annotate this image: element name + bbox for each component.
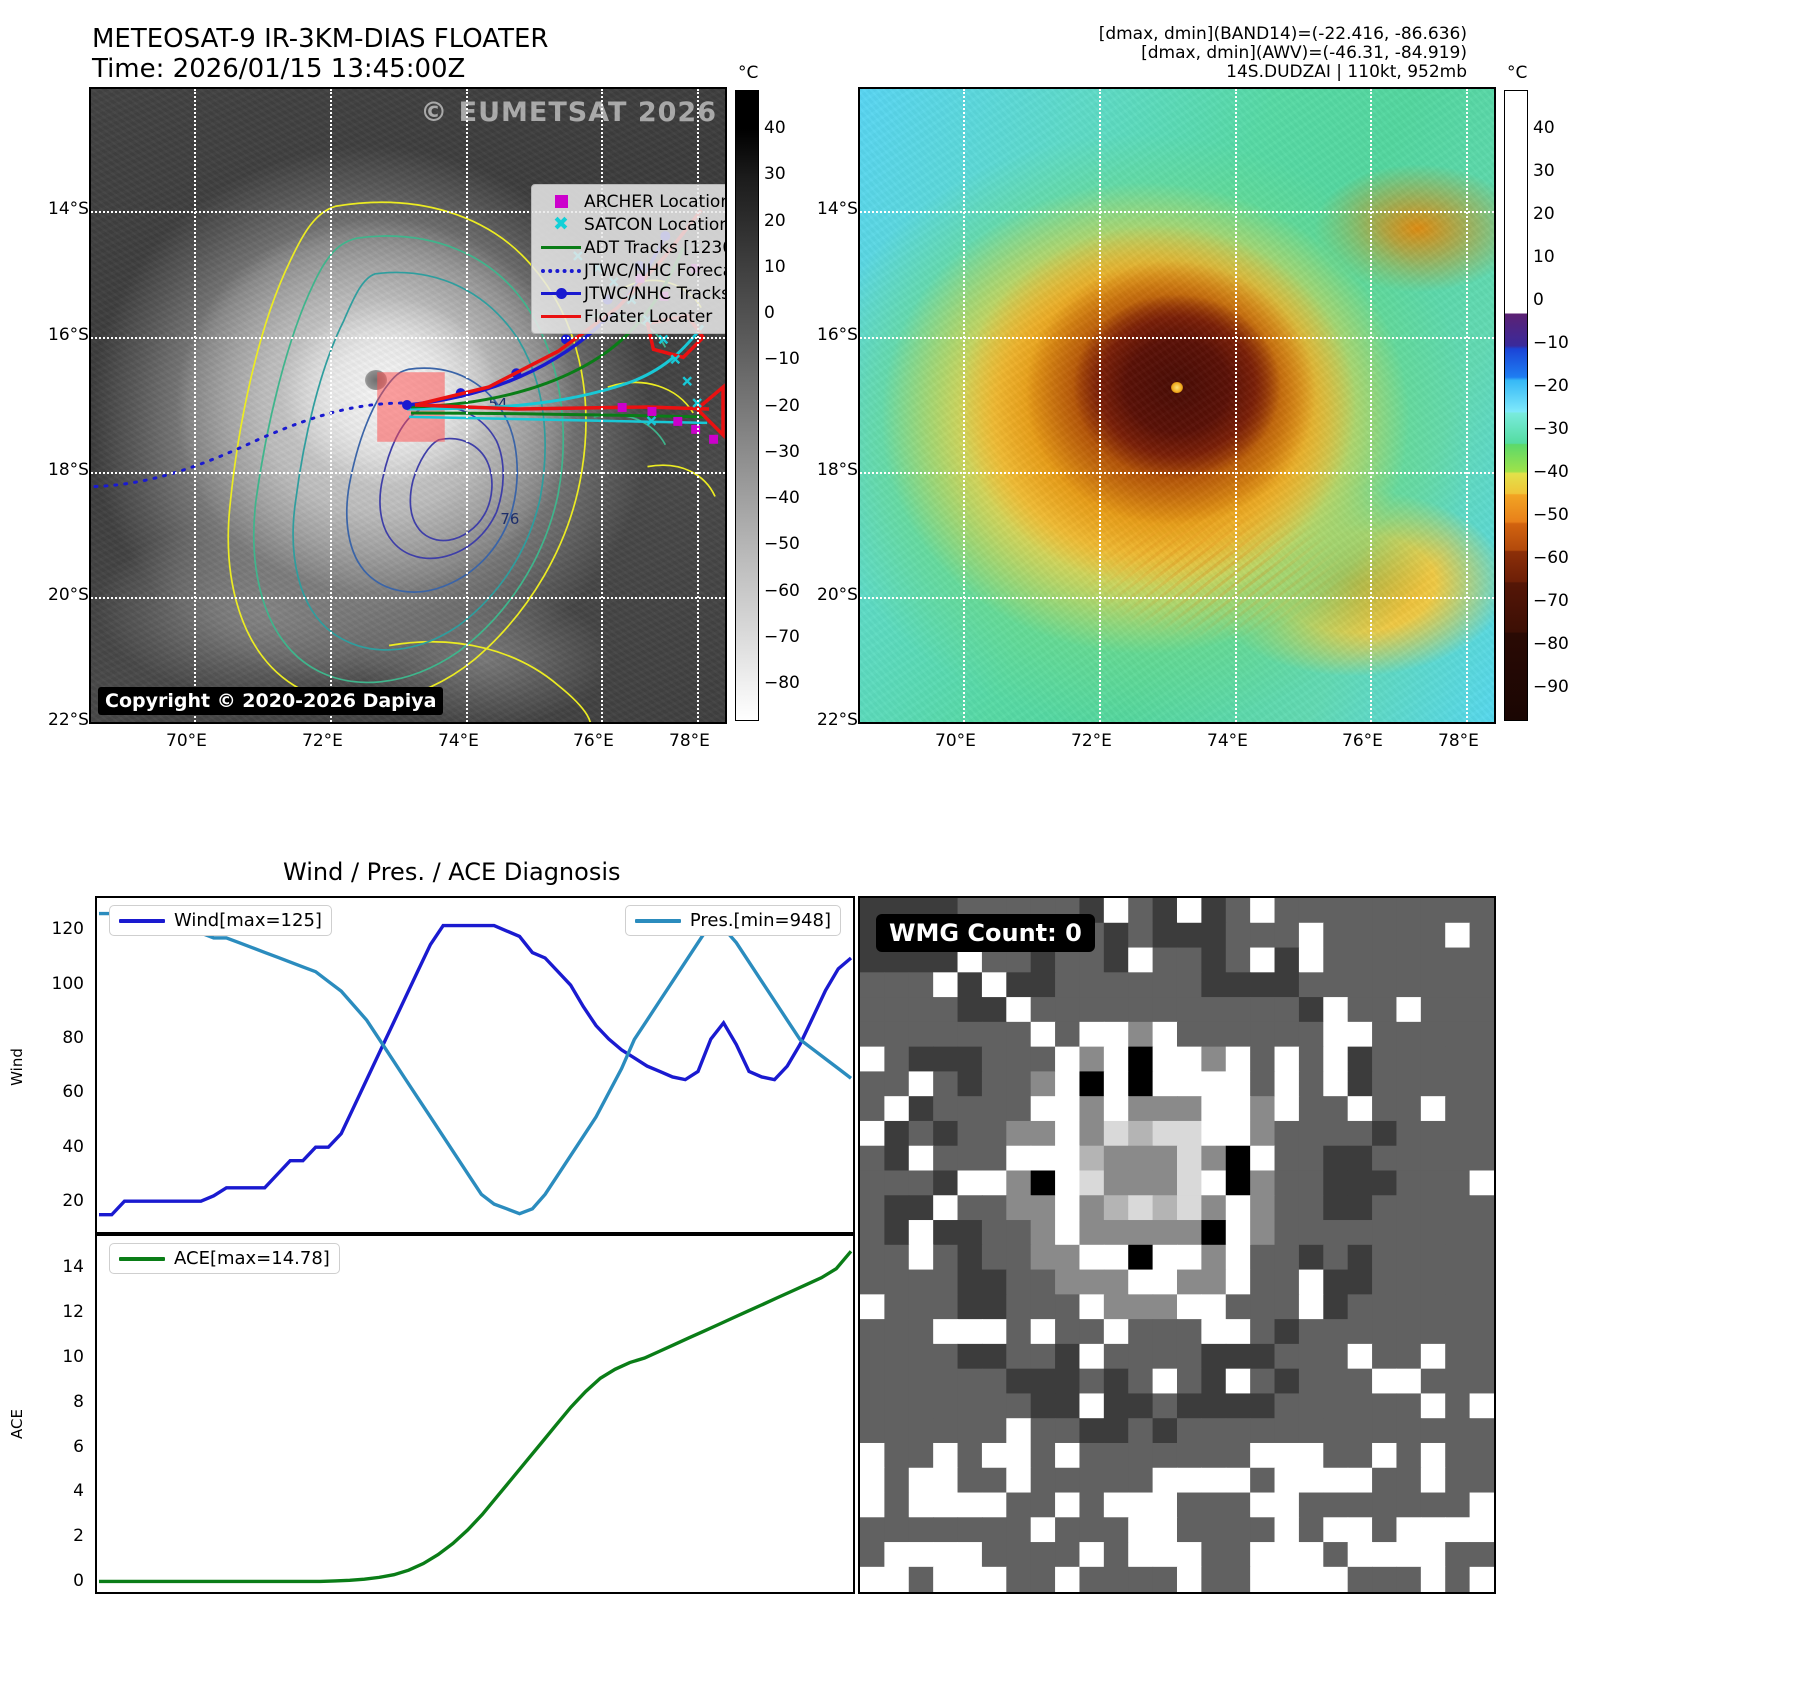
colorbar-tick: −10 — [764, 349, 800, 369]
wmg-pixel — [1250, 1369, 1275, 1394]
ace-axis-tick: 6 — [73, 1437, 84, 1457]
colorbar-tick: −80 — [764, 673, 800, 693]
wmg-pixel — [1299, 1567, 1324, 1592]
wmg-pixel — [1275, 1022, 1300, 1047]
wmg-pixel — [982, 1443, 1007, 1468]
ir-lat-22S: 22°S — [48, 710, 89, 730]
wind-y-ticks: 20406080100120 — [20, 896, 88, 1234]
color-enhanced-floater-image[interactable] — [858, 87, 1496, 724]
wmg-pixel — [1055, 1245, 1080, 1270]
colorbar-tick: −20 — [1533, 376, 1569, 396]
wmg-pixel — [1250, 923, 1275, 948]
wmg-pixel — [1275, 1220, 1300, 1245]
wmg-pixel — [1079, 1369, 1104, 1394]
wmg-pixel — [1006, 997, 1031, 1022]
wmg-pixel — [1079, 1517, 1104, 1542]
wmg-pixel — [1128, 1542, 1153, 1567]
wmg-pixel — [1226, 1517, 1251, 1542]
wmg-pixel — [1421, 1047, 1446, 1072]
wmg-pixel — [1445, 948, 1470, 973]
ir-lat-18S: 18°S — [48, 460, 89, 480]
wmg-pixel — [1445, 1071, 1470, 1096]
dashboard-root: METEOSAT-9 IR-3KM-DIAS FLOATER Time: 202… — [0, 0, 1797, 1690]
legend-item-floater[interactable]: Floater Locater — [538, 305, 727, 328]
wmg-pixel — [1470, 972, 1494, 997]
wmg-pixel — [982, 1567, 1007, 1592]
wmg-pixel — [1323, 1393, 1348, 1418]
wmg-pixel — [1421, 1121, 1446, 1146]
wmg-pixel — [909, 997, 934, 1022]
wmg-pixel — [1421, 972, 1446, 997]
wmg-pixel — [1153, 1369, 1178, 1394]
wmg-pixel — [1226, 972, 1251, 997]
wmg-pixel — [933, 1517, 958, 1542]
wmg-pixel — [1396, 1220, 1421, 1245]
wmg-pixel — [1006, 1319, 1031, 1344]
wmg-pixel — [1323, 1542, 1348, 1567]
wmg-pixel — [1250, 1468, 1275, 1493]
wmg-pixel — [1396, 1369, 1421, 1394]
wmg-pixel — [1104, 898, 1129, 923]
wmg-pixel — [958, 972, 983, 997]
wmg-pixel — [1153, 1294, 1178, 1319]
wmg-pixel — [958, 1121, 983, 1146]
wmg-pixel — [1445, 1418, 1470, 1443]
wmg-pixel — [884, 972, 909, 997]
wmg-pixel — [933, 1468, 958, 1493]
wmg-pixel — [884, 1319, 909, 1344]
wmg-pixel — [1031, 1071, 1056, 1096]
wmg-pixel — [1128, 1319, 1153, 1344]
wmg-pixel — [1299, 1542, 1324, 1567]
colorbar-tick: −10 — [1533, 333, 1569, 353]
ace-legend[interactable]: ACE[max=14.78] — [109, 1243, 340, 1274]
wmg-pixel — [1396, 1294, 1421, 1319]
wmg-pixel — [1396, 1443, 1421, 1468]
wmg-pixel — [1153, 997, 1178, 1022]
wmg-pixel — [1445, 1096, 1470, 1121]
ir-lon-78E: 78°E — [669, 731, 710, 751]
wind-axis-tick: 20 — [62, 1191, 84, 1211]
wmg-pixel — [933, 1493, 958, 1518]
wmg-pixel — [1299, 1493, 1324, 1518]
wmg-pixel — [1250, 972, 1275, 997]
wmg-pixel — [1006, 1493, 1031, 1518]
wmg-count-badge: WMG Count: 0 — [876, 914, 1095, 952]
wmg-pixel — [1299, 1270, 1324, 1295]
legend-item-archer[interactable]: ARCHER Locations [2032Z] — [538, 190, 727, 213]
wmg-pixel — [1201, 1567, 1226, 1592]
colorbar-tick: −30 — [764, 442, 800, 462]
wmg-pixel — [958, 1022, 983, 1047]
wmg-pixel — [982, 1468, 1007, 1493]
wmg-pixel — [1177, 1443, 1202, 1468]
wmg-pixel — [933, 1443, 958, 1468]
wmg-pixel — [1421, 1319, 1446, 1344]
wmg-pixel — [1226, 898, 1251, 923]
ir-gridline-20S — [91, 597, 727, 599]
wmg-pixel — [1055, 1493, 1080, 1518]
wmg-pixel — [1470, 1319, 1494, 1344]
wmg-pixel — [1006, 1542, 1031, 1567]
legend-item-adt[interactable]: ADT Tracks [1230Z 67.4 986.5] — [538, 236, 727, 259]
wmg-pixel — [1128, 1443, 1153, 1468]
ir-lat-16S: 16°S — [48, 325, 89, 345]
wmg-pixel — [958, 1443, 983, 1468]
ace-axis-tick: 8 — [73, 1392, 84, 1412]
satcon-track-2 — [409, 417, 707, 423]
wmg-pixel — [1226, 1443, 1251, 1468]
wmg-pixel — [958, 1047, 983, 1072]
wmg-pixel — [1275, 1418, 1300, 1443]
wmg-pixel — [1006, 1443, 1031, 1468]
grayscale-colorbar-ticks: 403020100−10−20−30−40−50−60−70−80 — [764, 90, 834, 721]
wmg-pixel — [1031, 1121, 1056, 1146]
wmg-pixel — [1079, 1096, 1104, 1121]
wmg-pixel — [884, 1542, 909, 1567]
wmg-pixel — [860, 1220, 885, 1245]
wmg-pixel — [1226, 1146, 1251, 1171]
wmg-pixel — [1445, 1146, 1470, 1171]
wmg-pixel — [1299, 1096, 1324, 1121]
wmg-pixel — [909, 1146, 934, 1171]
wmg-pixel — [909, 1170, 934, 1195]
wind-pressure-chart[interactable]: Wind[max=125] Pres.[min=948] — [95, 896, 855, 1234]
wmg-pixel — [1006, 1517, 1031, 1542]
ir-gridline-22S — [91, 722, 727, 724]
wmg-pixel — [1226, 1468, 1251, 1493]
wmg-pixel — [1421, 1270, 1446, 1295]
wmg-pixel — [1323, 1096, 1348, 1121]
wmg-pixel — [1470, 1096, 1494, 1121]
wmg-pixel — [1153, 1121, 1178, 1146]
wmg-pixel — [1299, 1468, 1324, 1493]
wmg-pixel — [1421, 1369, 1446, 1394]
wmg-pixel — [1275, 1344, 1300, 1369]
wmg-pixel — [1177, 1294, 1202, 1319]
colorbar-tick: 20 — [1533, 204, 1555, 224]
wmg-pixel — [1250, 1121, 1275, 1146]
wmg-pixel — [1031, 972, 1056, 997]
wmg-pixel — [884, 1468, 909, 1493]
wmg-pixel — [1031, 1418, 1056, 1443]
wmg-pixel — [1128, 1195, 1153, 1220]
wmg-pixel — [1128, 1096, 1153, 1121]
wmg-pixel — [860, 1121, 885, 1146]
wmg-pixel — [1323, 1319, 1348, 1344]
wmg-pixel — [1055, 1195, 1080, 1220]
wmg-pixel — [1445, 1220, 1470, 1245]
wmg-pixel — [982, 1170, 1007, 1195]
wmg-pixel — [1153, 1170, 1178, 1195]
wmg-pixel — [909, 1195, 934, 1220]
wmg-pixel — [1153, 1567, 1178, 1592]
wmg-microwave-panel[interactable]: WMG Count: 0 — [858, 896, 1496, 1594]
wmg-pixel — [1104, 1567, 1129, 1592]
pressure-legend[interactable]: Pres.[min=948] — [625, 905, 841, 936]
wmg-pixel — [982, 1369, 1007, 1394]
wmg-pixel — [1250, 1319, 1275, 1344]
wmg-pixel — [1323, 1071, 1348, 1096]
wmg-pixel — [1055, 1270, 1080, 1295]
ce-gridline-70E — [963, 89, 965, 724]
wmg-pixel — [1396, 1418, 1421, 1443]
wmg-pixel — [1275, 948, 1300, 973]
wmg-pixel — [933, 1022, 958, 1047]
wmg-pixel — [1421, 1170, 1446, 1195]
wmg-pixel — [1323, 1344, 1348, 1369]
wmg-pixel — [1275, 1121, 1300, 1146]
wmg-pixel — [1104, 923, 1129, 948]
wmg-pixel — [1201, 1393, 1226, 1418]
ace-chart[interactable]: ACE[max=14.78] — [95, 1234, 855, 1594]
wmg-pixel — [1299, 1369, 1324, 1394]
wmg-pixel — [1348, 1542, 1373, 1567]
archer-square-icon — [538, 195, 584, 208]
wmg-pixel — [1079, 1022, 1104, 1047]
wmg-pixel — [1153, 1542, 1178, 1567]
colorbar-tick: 10 — [764, 257, 786, 277]
wmg-pixel — [1445, 1047, 1470, 1072]
wmg-pixel — [1275, 1146, 1300, 1171]
wmg-pixel — [884, 1369, 909, 1394]
wmg-pixel — [1128, 1245, 1153, 1270]
wmg-pixel — [1396, 1270, 1421, 1295]
legend-label-forecast: JTWC/NHC Forecast [15/0600Z] — [584, 261, 727, 281]
wmg-pixel — [1250, 1022, 1275, 1047]
wmg-pixel — [1348, 1319, 1373, 1344]
wmg-pixel — [1348, 923, 1373, 948]
legend-item-satcon[interactable]: ✖ SATCON Locations [1100Z 86 970] — [538, 213, 727, 236]
ir-map-legend: ARCHER Locations [2032Z] ✖ SATCON Locati… — [531, 184, 727, 334]
wmg-pixel — [860, 1245, 885, 1270]
wmg-pixel — [958, 1294, 983, 1319]
wmg-pixel — [1079, 1146, 1104, 1171]
wmg-pixel — [982, 1542, 1007, 1567]
wmg-pixel — [1104, 1369, 1129, 1394]
wmg-pixel — [982, 1071, 1007, 1096]
wmg-pixel — [1372, 1468, 1397, 1493]
wmg-pixel — [1201, 972, 1226, 997]
wmg-pixel — [1372, 1245, 1397, 1270]
wmg-pixel — [1006, 1195, 1031, 1220]
wmg-pixel — [1470, 1418, 1494, 1443]
wmg-pixel-grid — [860, 898, 1494, 1592]
wmg-pixel — [1299, 1294, 1324, 1319]
ce-gridline-74E — [1235, 89, 1237, 724]
wmg-pixel — [1275, 1195, 1300, 1220]
wmg-pixel — [1372, 1047, 1397, 1072]
wmg-pixel — [1348, 1245, 1373, 1270]
wmg-pixel — [909, 1245, 934, 1270]
wmg-pixel — [1396, 1071, 1421, 1096]
wmg-pixel — [958, 1393, 983, 1418]
wmg-pixel — [1153, 1245, 1178, 1270]
wmg-pixel — [1226, 1369, 1251, 1394]
wmg-pixel — [1226, 923, 1251, 948]
wmg-pixel — [1006, 1294, 1031, 1319]
adt-track-2 — [411, 413, 705, 417]
wmg-pixel — [1031, 1517, 1056, 1542]
wmg-pixel — [1153, 1047, 1178, 1072]
wmg-pixel — [909, 1121, 934, 1146]
ir-lat-14S: 14°S — [48, 199, 89, 219]
wmg-pixel — [1079, 1047, 1104, 1072]
wind-line — [99, 926, 851, 1215]
wmg-pixel — [1128, 1294, 1153, 1319]
wmg-pixel — [958, 1493, 983, 1518]
wmg-pixel — [1323, 948, 1348, 973]
wmg-pixel — [1299, 1517, 1324, 1542]
ce-eye-marker — [1171, 382, 1183, 393]
wmg-pixel — [1201, 1418, 1226, 1443]
wmg-pixel — [1348, 1468, 1373, 1493]
contour-label-76: 76 — [500, 510, 519, 528]
floater-locater-arrow — [697, 387, 723, 435]
wmg-pixel — [958, 1195, 983, 1220]
wmg-pixel — [1421, 1294, 1446, 1319]
wmg-pixel — [1323, 1195, 1348, 1220]
wmg-pixel — [1323, 1146, 1348, 1171]
wmg-pixel — [1470, 1071, 1494, 1096]
wmg-pixel — [1177, 1393, 1202, 1418]
wmg-pixel — [1104, 1418, 1129, 1443]
wmg-pixel — [1470, 1517, 1494, 1542]
wmg-pixel — [958, 1319, 983, 1344]
wmg-pixel — [860, 1022, 885, 1047]
wmg-pixel — [1250, 1542, 1275, 1567]
wmg-pixel — [1079, 1393, 1104, 1418]
wmg-pixel — [1445, 898, 1470, 923]
colorbar-tick: −30 — [1533, 419, 1569, 439]
wmg-pixel — [1323, 898, 1348, 923]
wmg-pixel — [1128, 1369, 1153, 1394]
wmg-pixel — [1470, 1245, 1494, 1270]
wmg-pixel — [1372, 1121, 1397, 1146]
wmg-pixel — [1177, 1418, 1202, 1443]
ir-gridline-72E — [330, 89, 332, 724]
ce-gridline-78E — [1466, 89, 1468, 724]
wmg-pixel — [1201, 1542, 1226, 1567]
wmg-pixel — [1372, 1146, 1397, 1171]
wmg-pixel — [1372, 1344, 1397, 1369]
wmg-pixel — [860, 1418, 885, 1443]
wind-legend[interactable]: Wind[max=125] — [109, 905, 332, 936]
wmg-pixel — [1348, 1170, 1373, 1195]
wmg-pixel — [1250, 1418, 1275, 1443]
wmg-pixel — [1031, 1270, 1056, 1295]
wmg-pixel — [1348, 1121, 1373, 1146]
wmg-pixel — [1226, 1418, 1251, 1443]
colorbar-tick: −50 — [764, 534, 800, 554]
wmg-pixel — [1396, 1517, 1421, 1542]
wmg-pixel — [1299, 1146, 1324, 1171]
wmg-pixel — [982, 1022, 1007, 1047]
wmg-pixel — [1275, 972, 1300, 997]
wmg-pixel — [1396, 1096, 1421, 1121]
wmg-pixel — [982, 1270, 1007, 1295]
wmg-pixel — [1104, 1542, 1129, 1567]
wmg-pixel — [1348, 898, 1373, 923]
wmg-pixel — [884, 1071, 909, 1096]
pressure-legend-label: Pres.[min=948] — [690, 910, 831, 931]
ce-lon-78E: 78°E — [1438, 731, 1479, 751]
wmg-pixel — [1177, 1047, 1202, 1072]
legend-item-jtwc-tracks[interactable]: JTWC/NHC Tracks [15/1200Z] — [538, 282, 727, 305]
ir-lon-70E: 70°E — [166, 731, 207, 751]
wmg-pixel — [884, 1567, 909, 1592]
wmg-pixel — [1006, 972, 1031, 997]
ce-lat-18S: 18°S — [817, 460, 858, 480]
wmg-pixel — [1079, 1195, 1104, 1220]
wmg-pixel — [1250, 1493, 1275, 1518]
wmg-pixel — [1055, 997, 1080, 1022]
colorbar-tick: 30 — [1533, 161, 1555, 181]
wmg-pixel — [1348, 1493, 1373, 1518]
satcon-cross-icon: ✖ — [538, 215, 584, 234]
wmg-pixel — [1445, 1567, 1470, 1592]
wmg-pixel — [958, 1344, 983, 1369]
wmg-pixel — [1299, 923, 1324, 948]
wmg-pixel — [1031, 1096, 1056, 1121]
ir-floater-image[interactable]: 54 76 — [89, 87, 727, 724]
wmg-pixel — [1372, 1220, 1397, 1245]
wmg-pixel — [1055, 1369, 1080, 1394]
wmg-pixel — [1445, 1170, 1470, 1195]
wmg-pixel — [1445, 1517, 1470, 1542]
wmg-pixel — [982, 972, 1007, 997]
wmg-pixel — [1445, 1542, 1470, 1567]
wmg-pixel — [1153, 1195, 1178, 1220]
wmg-pixel — [1226, 1220, 1251, 1245]
wmg-pixel — [1104, 1170, 1129, 1195]
wmg-pixel — [1153, 1393, 1178, 1418]
wmg-pixel — [1055, 1319, 1080, 1344]
wmg-pixel — [1275, 1542, 1300, 1567]
wmg-pixel — [933, 1220, 958, 1245]
legend-label-floater: Floater Locater — [584, 307, 712, 327]
wmg-pixel — [1421, 1542, 1446, 1567]
wmg-pixel — [933, 1418, 958, 1443]
wmg-pixel — [1055, 972, 1080, 997]
wmg-pixel — [1396, 1146, 1421, 1171]
wmg-pixel — [1396, 1170, 1421, 1195]
wmg-pixel — [1372, 1170, 1397, 1195]
wmg-pixel — [884, 1270, 909, 1295]
wmg-pixel — [933, 1170, 958, 1195]
floater-line-icon — [538, 315, 584, 318]
wmg-pixel — [1201, 1344, 1226, 1369]
wmg-pixel — [1079, 1121, 1104, 1146]
wmg-pixel — [1177, 1567, 1202, 1592]
wmg-pixel — [958, 1071, 983, 1096]
wmg-pixel — [1372, 898, 1397, 923]
wmg-pixel — [1006, 1220, 1031, 1245]
legend-item-forecast[interactable]: JTWC/NHC Forecast [15/0600Z] — [538, 259, 727, 282]
wmg-pixel — [1055, 1146, 1080, 1171]
wmg-pixel — [1079, 972, 1104, 997]
wmg-pixel — [1031, 1220, 1056, 1245]
wmg-pixel — [1372, 1195, 1397, 1220]
colorbar-tick: −60 — [1533, 548, 1569, 568]
wmg-pixel — [1055, 1517, 1080, 1542]
wmg-pixel — [1348, 1418, 1373, 1443]
wmg-pixel — [1006, 1022, 1031, 1047]
wmg-pixel — [1250, 948, 1275, 973]
wmg-pixel — [884, 1517, 909, 1542]
wmg-pixel — [1421, 1393, 1446, 1418]
wmg-pixel — [958, 1220, 983, 1245]
